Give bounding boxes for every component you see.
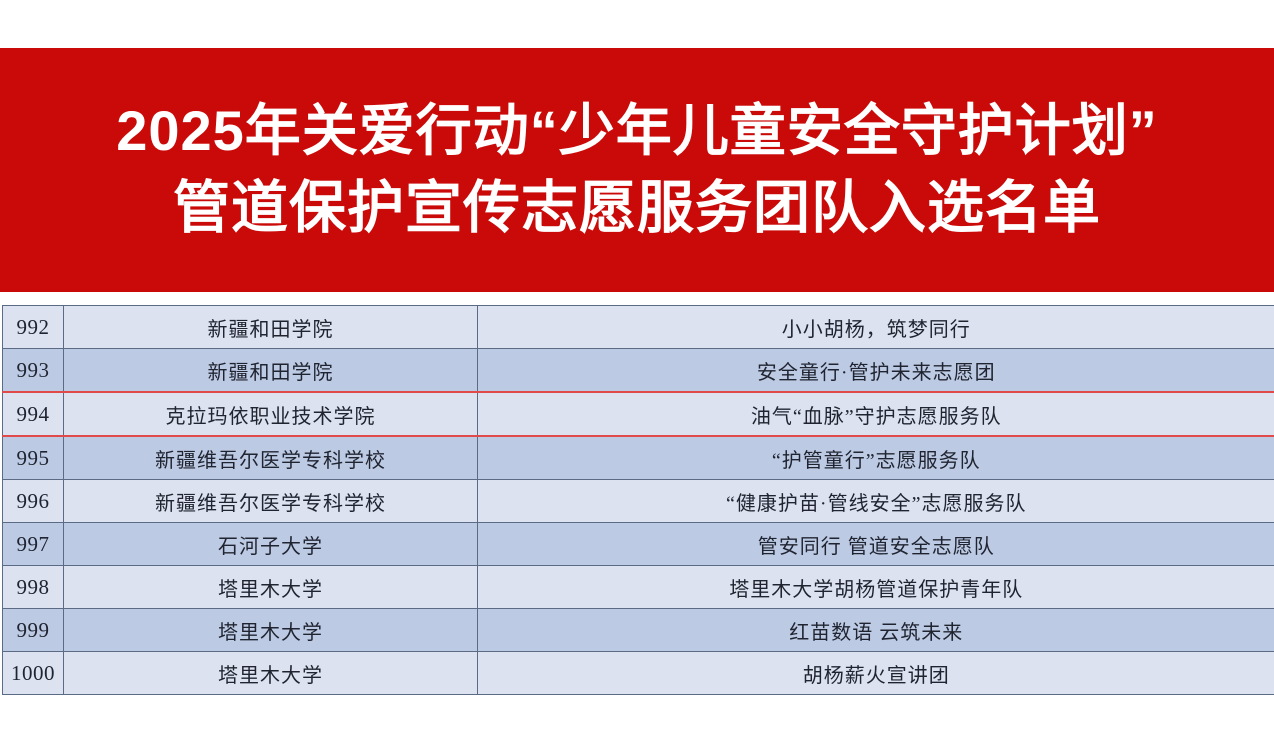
row-team-name-cell: “健康护苗·管线安全”志愿服务队	[478, 480, 1274, 523]
row-team-name-cell: 塔里木大学胡杨管道保护青年队	[478, 566, 1274, 609]
row-organization-cell: 石河子大学	[64, 523, 478, 566]
table-row: 997石河子大学管安同行 管道安全志愿队	[3, 523, 1274, 566]
row-organization-cell: 新疆维吾尔医学专科学校	[64, 480, 478, 523]
row-organization-cell: 新疆维吾尔医学专科学校	[64, 436, 478, 480]
row-number-cell: 993	[3, 349, 64, 393]
row-number-cell: 997	[3, 523, 64, 566]
row-number-cell: 992	[3, 306, 64, 349]
table-row: 998塔里木大学塔里木大学胡杨管道保护青年队	[3, 566, 1274, 609]
banner-title-line-2: 管道保护宣传志愿服务团队入选名单	[173, 169, 1101, 248]
row-organization-cell: 塔里木大学	[64, 609, 478, 652]
row-team-name-cell: 管安同行 管道安全志愿队	[478, 523, 1274, 566]
selected-teams-table: 992新疆和田学院小小胡杨，筑梦同行993新疆和田学院安全童行·管护未来志愿团9…	[2, 305, 1274, 695]
row-organization-cell: 新疆和田学院	[64, 349, 478, 393]
row-number-cell: 1000	[3, 652, 64, 695]
table-row: 996新疆维吾尔医学专科学校“健康护苗·管线安全”志愿服务队	[3, 480, 1274, 523]
row-number-cell: 996	[3, 480, 64, 523]
page-root: 2025年关爱行动“少年儿童安全守护计划” 管道保护宣传志愿服务团队入选名单 9…	[0, 0, 1274, 735]
row-team-name-cell: “护管童行”志愿服务队	[478, 436, 1274, 480]
row-number-cell: 995	[3, 436, 64, 480]
row-organization-cell: 塔里木大学	[64, 652, 478, 695]
table-body: 992新疆和田学院小小胡杨，筑梦同行993新疆和田学院安全童行·管护未来志愿团9…	[3, 306, 1274, 695]
row-team-name-cell: 胡杨薪火宣讲团	[478, 652, 1274, 695]
row-team-name-cell: 小小胡杨，筑梦同行	[478, 306, 1274, 349]
row-organization-cell: 克拉玛依职业技术学院	[64, 392, 478, 436]
table-row: 995新疆维吾尔医学专科学校“护管童行”志愿服务队	[3, 436, 1274, 480]
banner-title-line-1: 2025年关爱行动“少年儿童安全守护计划”	[116, 92, 1158, 169]
table-row: 993新疆和田学院安全童行·管护未来志愿团	[3, 349, 1274, 393]
selected-teams-table-wrapper: 992新疆和田学院小小胡杨，筑梦同行993新疆和田学院安全童行·管护未来志愿团9…	[2, 305, 1274, 695]
table-row: 994克拉玛依职业技术学院油气“血脉”守护志愿服务队	[3, 392, 1274, 436]
row-team-name-cell: 油气“血脉”守护志愿服务队	[478, 392, 1274, 436]
title-banner: 2025年关爱行动“少年儿童安全守护计划” 管道保护宣传志愿服务团队入选名单	[0, 48, 1274, 292]
table-row: 992新疆和田学院小小胡杨，筑梦同行	[3, 306, 1274, 349]
row-organization-cell: 塔里木大学	[64, 566, 478, 609]
row-number-cell: 999	[3, 609, 64, 652]
row-team-name-cell: 红苗数语 云筑未来	[478, 609, 1274, 652]
row-team-name-cell: 安全童行·管护未来志愿团	[478, 349, 1274, 393]
table-row: 1000塔里木大学胡杨薪火宣讲团	[3, 652, 1274, 695]
row-number-cell: 994	[3, 392, 64, 436]
table-row: 999塔里木大学红苗数语 云筑未来	[3, 609, 1274, 652]
row-number-cell: 998	[3, 566, 64, 609]
row-organization-cell: 新疆和田学院	[64, 306, 478, 349]
